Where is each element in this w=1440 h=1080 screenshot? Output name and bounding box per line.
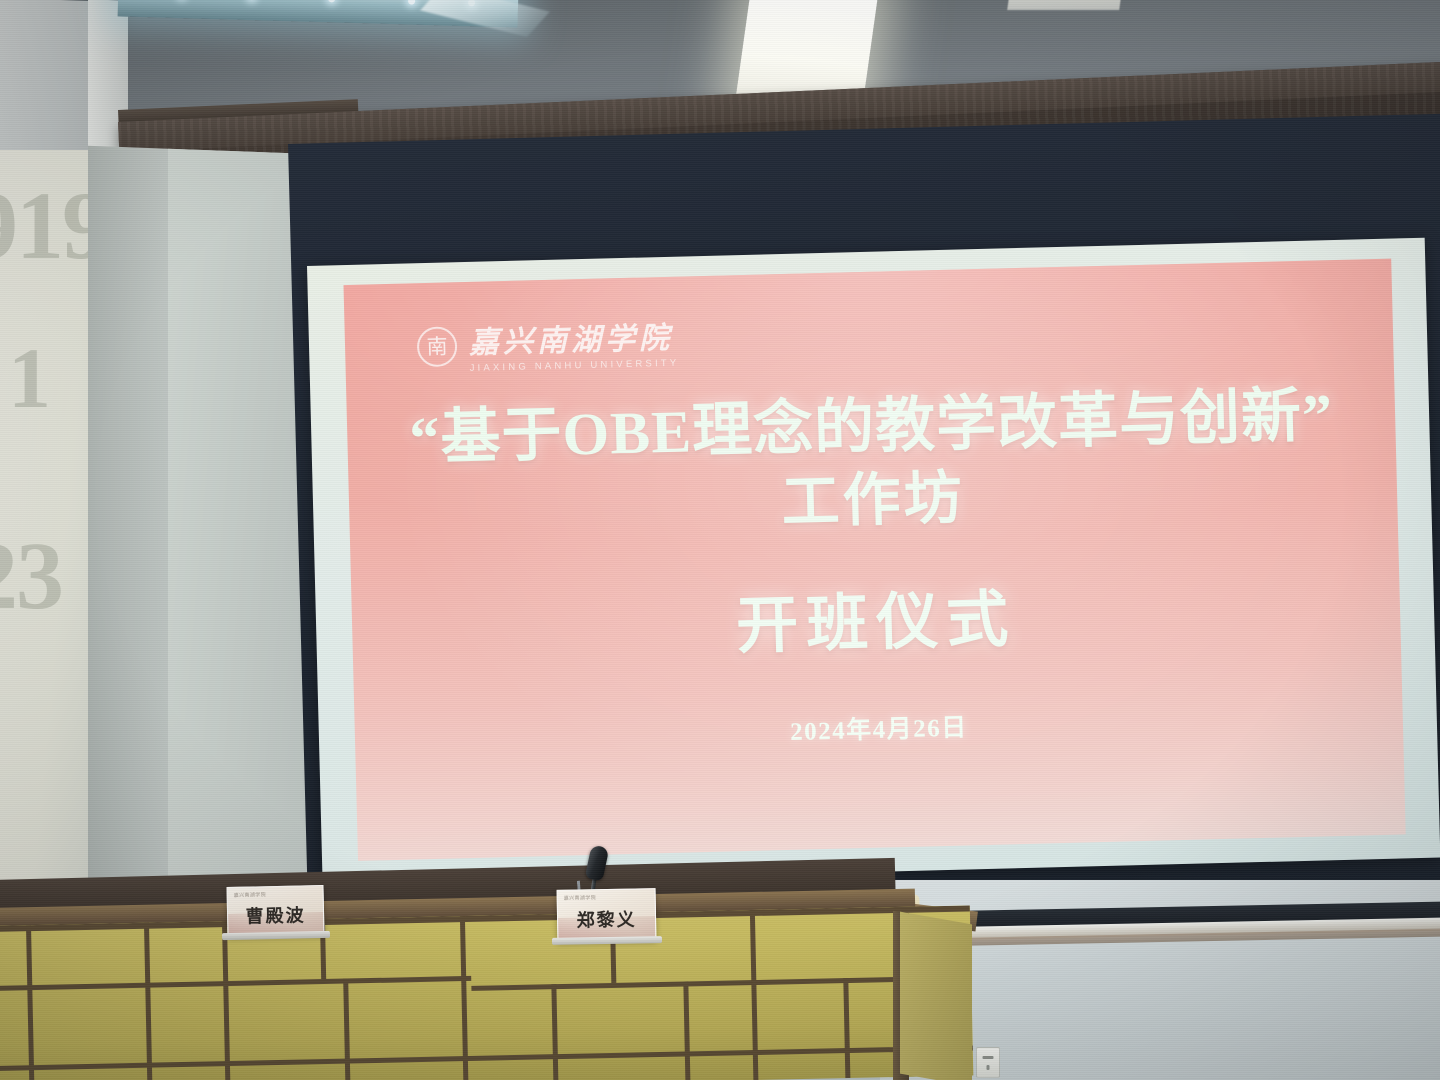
university-name-cn: 嘉兴南湖学院 [468,313,679,362]
ceiling-panel-light-secondary [1007,0,1125,10]
wall-graphic-number-2: 1 [8,328,49,428]
placard-org-label: 嘉兴南湖学院 [564,894,597,902]
placard-name: 曹殿波 [228,901,324,929]
wall-graphic-number-3: 23 [0,520,62,631]
wall-outlet-right[interactable] [976,1047,1000,1078]
name-placard[interactable]: 嘉兴南湖学院 曹殿波 [226,885,324,937]
projected-slide: 南 嘉兴南湖学院 JIAXING NANHU UNIVERSITY “基于OBE… [343,259,1405,861]
lecture-hall-photo: 919 1 23 南 嘉兴南湖学院 JIAXING NANHU UNIVERSI… [0,0,1440,1080]
left-wall-panel: 919 1 23 [0,150,96,910]
placard-name: 郑黎义 [558,905,655,933]
front-desk-panel [0,905,973,1080]
name-placard[interactable]: 嘉兴南湖学院 郑黎义 [557,888,657,942]
slide-date: 2024年4月26日 [355,696,1404,759]
slide-subtitle: 开班仪式 [351,558,1401,674]
emblem-glyph: 南 [426,336,448,358]
placard-org-label: 嘉兴南湖学院 [234,891,267,899]
university-emblem-icon: 南 [417,326,458,367]
university-logo: 南 嘉兴南湖学院 JIAXING NANHU UNIVERSITY [416,313,679,376]
projection-screen: 南 嘉兴南湖学院 JIAXING NANHU UNIVERSITY “基于OBE… [307,238,1440,886]
podium-side-panel [900,912,972,1080]
left-wall-column [88,146,318,944]
